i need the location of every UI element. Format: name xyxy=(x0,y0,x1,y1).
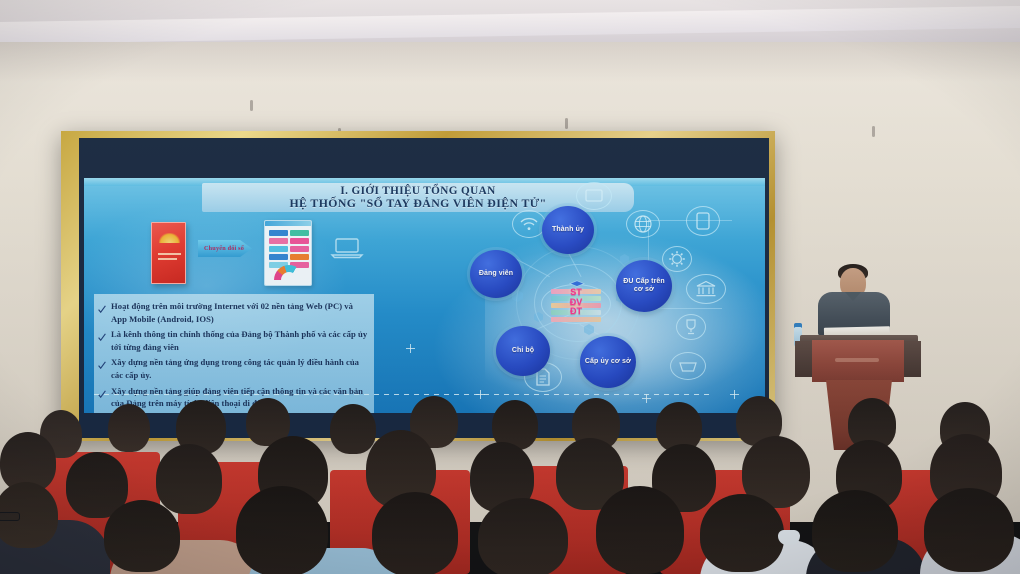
diagram-node-label: Thành ủy xyxy=(552,226,584,234)
basket-icon xyxy=(670,352,706,380)
dashboard-cell xyxy=(290,230,309,236)
dashboard-cell xyxy=(269,254,288,260)
monitor-icon xyxy=(576,182,612,210)
wall-hook xyxy=(565,118,568,129)
presentation-slide[interactable]: I. GIỚI THIỆU TỔNG QUAN HỆ THỐNG "SỔ TAY… xyxy=(84,178,765,413)
diagram-node-dang-vien[interactable]: Đảng viên xyxy=(470,250,522,298)
diagram-node-thanh-uy[interactable]: Thành ủy xyxy=(542,206,594,254)
book-subtitle-line xyxy=(158,258,177,260)
audience-head xyxy=(596,486,684,574)
bullet-item: Hoạt động trên môi trường Internet với 0… xyxy=(98,300,368,325)
tablet-icon xyxy=(686,206,720,236)
bullet-text: Là kênh thông tin chính thống của Đảng b… xyxy=(111,328,368,353)
bullet-item: Xây dựng nền tảng ứng dụng trong công tá… xyxy=(98,356,368,381)
dashboard-cell xyxy=(269,230,288,236)
audience-head xyxy=(700,494,784,572)
globe-icon xyxy=(626,210,660,238)
checkmark-icon xyxy=(98,330,106,340)
party-handbook-graphic xyxy=(151,222,186,284)
audience-head xyxy=(236,486,328,574)
hub-label-line3: ĐT xyxy=(539,307,613,317)
diagram-node-label: Chi bộ xyxy=(512,347,534,355)
face-mask xyxy=(778,530,800,545)
decorative-plus xyxy=(642,394,651,403)
wall-shadow xyxy=(0,42,1020,82)
book-title-line xyxy=(158,253,181,255)
book-emblem-icon xyxy=(159,233,180,243)
graduation-cap-icon xyxy=(569,276,585,285)
bullet-text: Hoạt động trên môi trường Internet với 0… xyxy=(111,300,368,325)
podium-side-right xyxy=(901,341,921,377)
hub-label: ST ĐV ĐT xyxy=(539,288,613,317)
bullet-item: Là kênh thông tin chính thống của Đảng b… xyxy=(98,328,368,353)
gear-icon xyxy=(662,246,692,272)
conference-room-scene: I. GIỚI THIỆU TỔNG QUAN HỆ THỐNG "SỔ TAY… xyxy=(0,0,1020,574)
checkmark-icon xyxy=(98,358,106,368)
dashboard-cell xyxy=(290,254,309,260)
laptop-icon xyxy=(330,236,364,260)
dashboard-cell xyxy=(290,246,309,252)
dashboard-cell xyxy=(290,238,309,244)
wall-hook xyxy=(250,100,253,111)
trophy-icon xyxy=(676,314,706,340)
diagram-node-du-cap-tren-co-so[interactable]: ĐU Cấp trên cơ sở xyxy=(616,260,672,312)
bullet-text: Xây dựng nền tảng giúp đảng viên tiếp cậ… xyxy=(111,385,368,410)
central-hub: ST ĐV ĐT xyxy=(539,272,613,332)
bullet-text: Xây dựng nền tảng ứng dụng trong công tá… xyxy=(111,356,368,381)
dashboard-cell xyxy=(269,246,288,252)
podium-emblem xyxy=(835,358,879,362)
bank-icon xyxy=(686,274,726,304)
checkmark-icon xyxy=(98,387,106,397)
slide-bottom-dashes xyxy=(94,394,714,395)
wall-hook xyxy=(872,126,875,137)
audience-head xyxy=(156,444,222,514)
audience-head xyxy=(924,488,1014,572)
diagram-link xyxy=(648,308,722,309)
audience-head xyxy=(812,490,898,572)
system-network-diagram: ST ĐV ĐT Thành ủy Đảng viên ĐU Cấp trên … xyxy=(384,194,764,413)
diagram-node-label: Đảng viên xyxy=(479,270,513,278)
audience-head xyxy=(372,492,458,574)
diagram-node-label: ĐU Cấp trên cơ sở xyxy=(616,278,672,295)
audience-head xyxy=(104,500,180,572)
audience-head xyxy=(478,498,568,574)
diagram-node-label: Cấp ủy cơ sở xyxy=(585,358,631,366)
dashboard-header-bar xyxy=(265,221,311,226)
checkmark-icon xyxy=(98,302,106,312)
dashboard-grid xyxy=(269,230,309,268)
app-dashboard-graphic xyxy=(264,220,312,286)
slide-bullet-panel: Hoạt động trên môi trường Internet với 0… xyxy=(94,294,374,413)
digital-transformation-label: Chuyển đổi số xyxy=(204,245,244,252)
decorative-plus xyxy=(406,344,415,353)
eyeglasses xyxy=(0,512,20,521)
hub-bar xyxy=(551,317,601,322)
diagram-node-chi-bo[interactable]: Chi bộ xyxy=(496,326,550,376)
audience-head xyxy=(330,404,376,454)
wifi-icon xyxy=(512,210,546,238)
diagram-node-cap-uy-co-so[interactable]: Cấp ủy cơ sở xyxy=(580,336,636,388)
audience-head xyxy=(108,404,150,452)
digital-transformation-arrow: Chuyển đổi số xyxy=(198,240,252,257)
decorative-plus xyxy=(730,390,739,399)
dashboard-cell xyxy=(269,238,288,244)
